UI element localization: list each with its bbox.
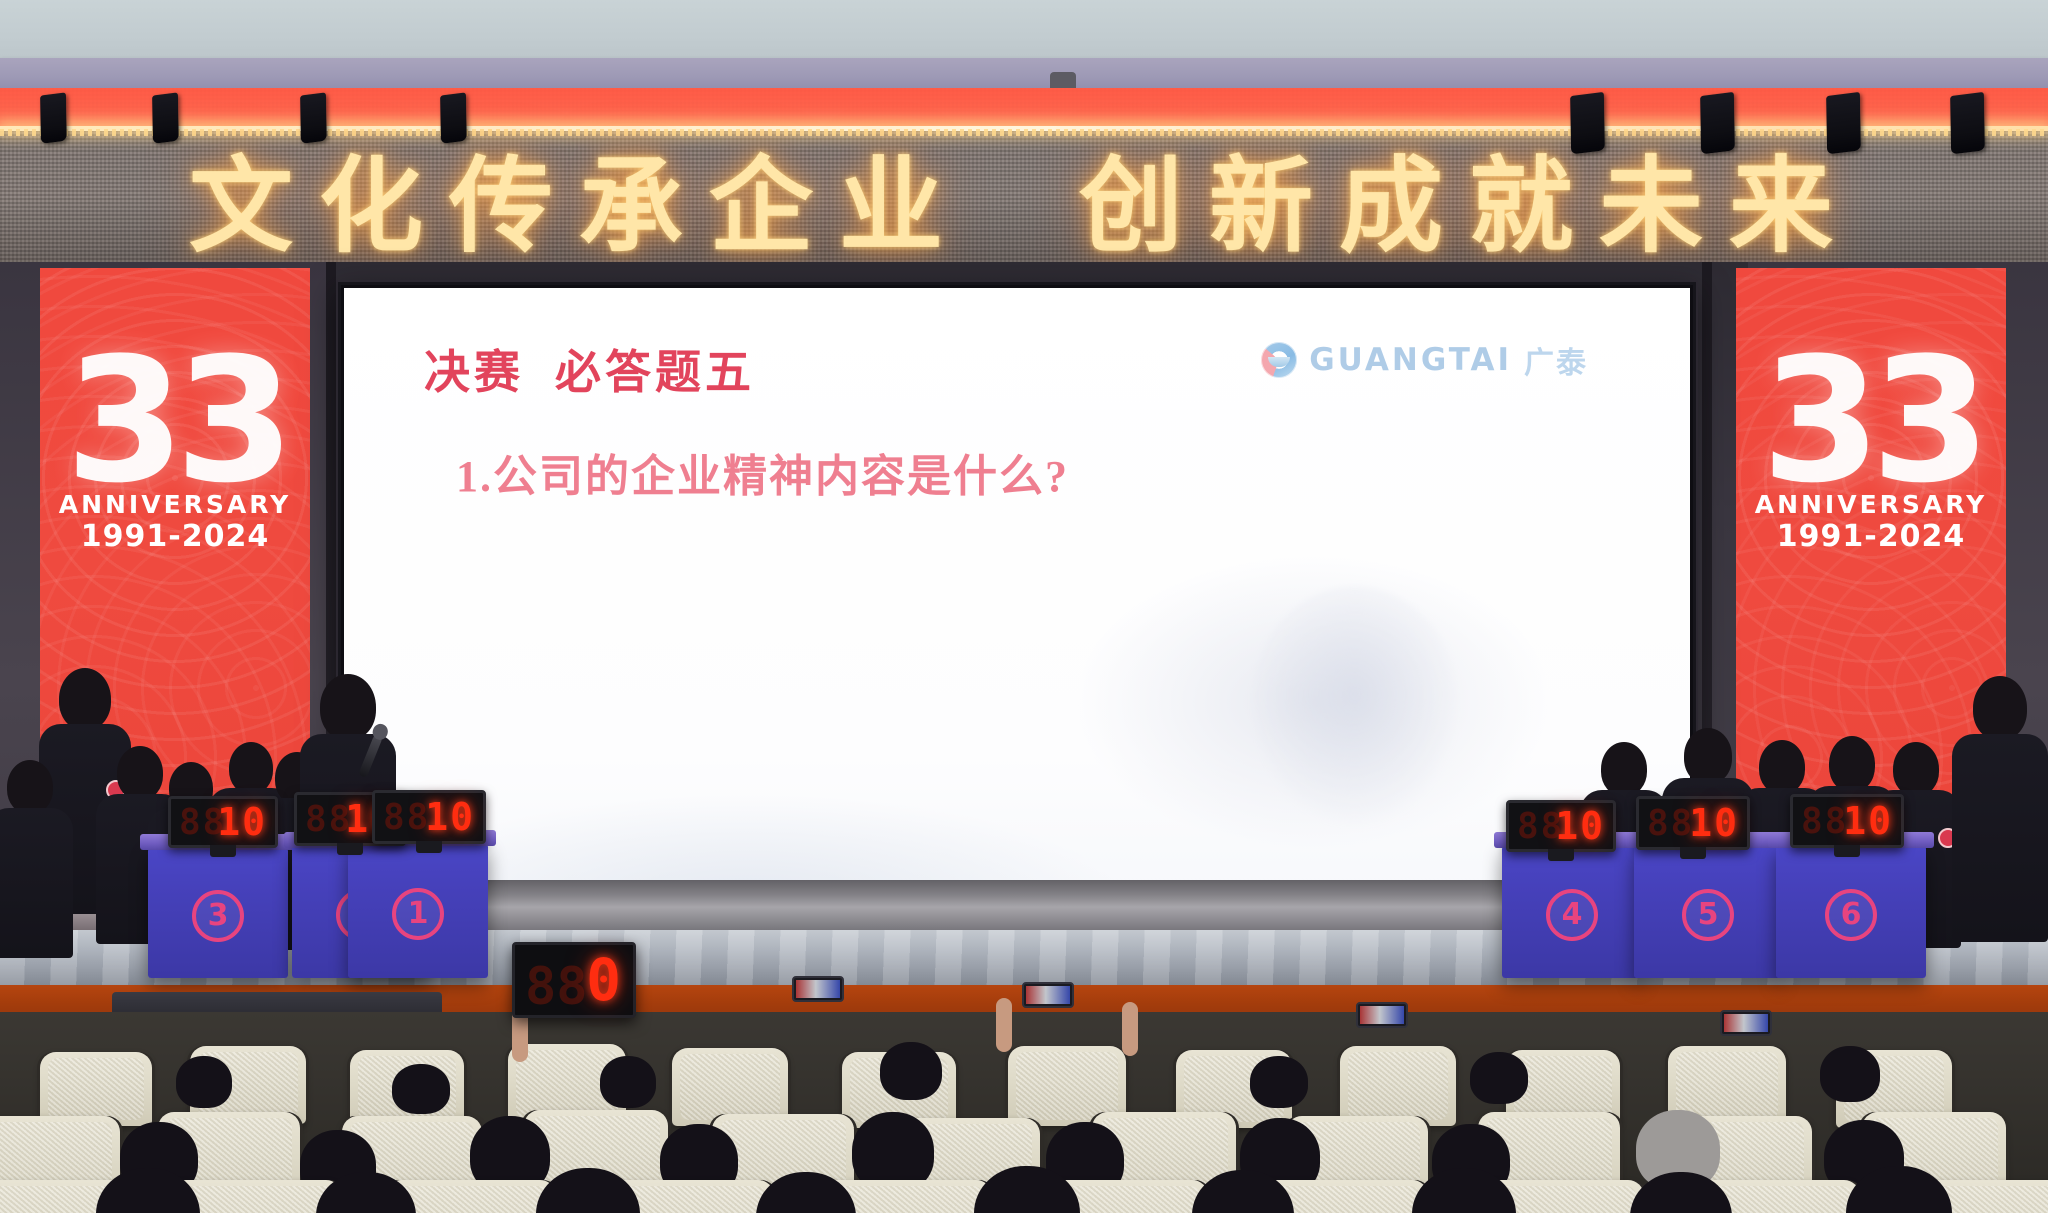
audience-head xyxy=(880,1042,942,1100)
timer-value: 0 xyxy=(586,946,621,1014)
raised-hand xyxy=(996,998,1012,1052)
score-value-team-5: 10 xyxy=(1689,801,1739,845)
seat xyxy=(40,1052,152,1126)
score-ghost-segments: 88 xyxy=(1801,801,1848,842)
stage-light-icon xyxy=(1950,92,1985,154)
logo-chinese-text: 广泰 xyxy=(1524,338,1588,382)
stage-light-icon xyxy=(300,92,327,143)
raised-hand xyxy=(1122,1002,1138,1056)
smartphone-icon xyxy=(1720,1010,1772,1036)
slide-watermark xyxy=(1250,586,1460,826)
score-display-team-1: 88 10 xyxy=(372,790,486,844)
audience-head xyxy=(1820,1046,1880,1102)
team-podium-4[interactable]: 4 xyxy=(1502,846,1642,978)
overhead-banner-text: 文化传承企业 创新成就未来 xyxy=(0,136,2048,256)
stage-light-icon xyxy=(440,92,467,143)
slide-question-text: 1.公司的企业精神内容是什么? xyxy=(456,440,1069,504)
podium-number-4: 4 xyxy=(1546,889,1598,941)
score-display-team-6: 88 10 xyxy=(1790,794,1904,848)
logo-english-text: GUANGTAI xyxy=(1309,342,1512,378)
person-body xyxy=(0,808,73,958)
score-value-team-6: 10 xyxy=(1843,799,1893,843)
team-podium-6[interactable]: 6 xyxy=(1776,846,1926,978)
stage-light-icon xyxy=(152,92,179,143)
auditorium-stage-photo: 文化传承企业 创新成就未来 33 ANNIVERSARY 1991-2024 文… xyxy=(0,0,2048,1213)
person-head xyxy=(1684,728,1732,784)
ceiling xyxy=(0,0,2048,60)
team-podium-3[interactable]: 3 xyxy=(148,848,288,978)
person-head xyxy=(1973,676,2027,740)
audience-head xyxy=(600,1056,656,1108)
countdown-timer-display: 88 0 xyxy=(512,942,636,1018)
stage-light-icon xyxy=(1826,92,1861,154)
timer-ghost-segments: 88 xyxy=(525,957,588,1017)
podium-number-1: 1 xyxy=(392,888,444,940)
smartphone-icon xyxy=(1022,982,1074,1008)
score-ghost-segments: 88 xyxy=(1517,806,1564,847)
podium-number-3: 3 xyxy=(192,890,244,942)
banner-line-right: 创新成就未来 xyxy=(1079,121,1859,269)
person-head xyxy=(1759,740,1805,794)
anniversary-years: 1991-2024 xyxy=(1777,519,1965,554)
guangtai-swoosh-logo-icon xyxy=(1261,342,1297,378)
seat xyxy=(1340,1046,1456,1126)
audience-head xyxy=(1250,1056,1308,1108)
score-ghost-segments: 88 xyxy=(1647,803,1694,844)
projection-screen-frame: 决赛 必答题五 GUANGTAI 广泰 1.公司的企业精神内容是什么? xyxy=(338,282,1696,962)
staff-member xyxy=(1952,676,2048,942)
smartphone-icon xyxy=(792,976,844,1002)
audience-head xyxy=(176,1056,232,1108)
score-ghost-segments: 88 xyxy=(179,802,226,843)
person-head xyxy=(59,668,111,730)
anniversary-emblem-right: 33 ANNIVERSARY 1991-2024 xyxy=(1736,346,2006,606)
contestant xyxy=(0,760,70,950)
audience-area xyxy=(0,1012,2048,1213)
team-podium-5[interactable]: 5 xyxy=(1634,846,1782,978)
anniversary-number: 33 xyxy=(65,346,284,496)
stage-light-icon xyxy=(1570,92,1605,154)
score-display-team-4: 88 10 xyxy=(1506,800,1616,852)
score-ghost-segments: 88 xyxy=(305,799,352,840)
team-podium-1[interactable]: 1 xyxy=(348,844,488,978)
anniversary-number: 33 xyxy=(1761,346,1980,496)
audience-head xyxy=(392,1064,450,1114)
stage-light-icon xyxy=(1700,92,1735,154)
person-head xyxy=(1829,736,1875,792)
score-display-team-5: 88 10 xyxy=(1636,796,1750,850)
anniversary-years: 1991-2024 xyxy=(81,519,269,554)
person-head xyxy=(1601,742,1647,796)
podium-number-5: 5 xyxy=(1682,889,1734,941)
projection-screen: 决赛 必答题五 GUANGTAI 广泰 1.公司的企业精神内容是什么? xyxy=(344,288,1690,956)
slide-company-logo: GUANGTAI 广泰 xyxy=(1261,338,1588,382)
person-head xyxy=(320,674,376,740)
podium-number-6: 6 xyxy=(1825,889,1877,941)
stage-light-icon xyxy=(40,92,67,143)
slide-title: 决赛 必答题五 xyxy=(424,336,755,402)
anniversary-emblem-left: 33 ANNIVERSARY 1991-2024 xyxy=(40,346,310,606)
score-value-team-1: 10 xyxy=(425,795,475,839)
person-body xyxy=(1952,734,2048,942)
audience-head xyxy=(1470,1052,1528,1104)
smartphone-icon xyxy=(1356,1002,1408,1028)
score-ghost-segments: 88 xyxy=(383,797,430,838)
score-display-team-3: 88 10 xyxy=(168,796,278,848)
person-head xyxy=(1893,742,1939,796)
person-head xyxy=(7,760,53,814)
